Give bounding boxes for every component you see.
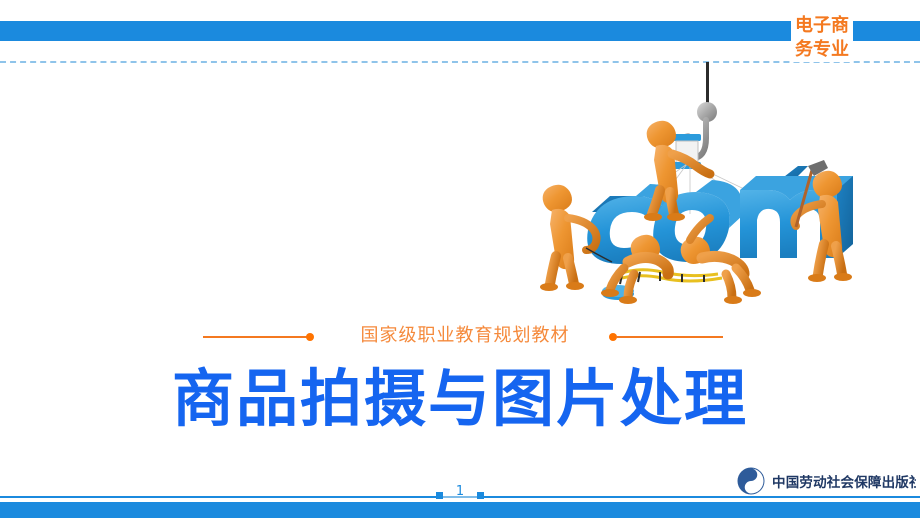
subtitle-rule-right	[616, 336, 723, 338]
publisher-logo: 中国劳动社会保障出版社	[736, 466, 916, 496]
subtitle-text: 国家级职业教育规划教材	[330, 322, 600, 350]
page-number: 1	[440, 484, 480, 500]
swirl-icon	[738, 468, 765, 495]
com-construction-illustration	[540, 62, 920, 320]
corner-tag-line-1: 电子商	[791, 14, 853, 38]
header-blue-bar	[0, 21, 920, 41]
subtitle-row: 国家级职业教育规划教材	[0, 322, 920, 352]
footer-rule-left	[0, 496, 438, 498]
corner-tag-major: 电子商 务专业	[791, 14, 853, 62]
publisher-name-text: 中国劳动社会保障出版社	[772, 474, 916, 491]
subtitle-dot-left	[306, 333, 314, 341]
corner-tag-line-2: 务专业	[791, 38, 853, 62]
footer-rule-right	[482, 496, 920, 498]
title-slide: 电子商 务专业	[0, 0, 920, 518]
subtitle-rule-left	[203, 336, 307, 338]
page-title: 商品拍摄与图片处理	[0, 362, 920, 436]
footer-blue-bar	[0, 502, 920, 518]
